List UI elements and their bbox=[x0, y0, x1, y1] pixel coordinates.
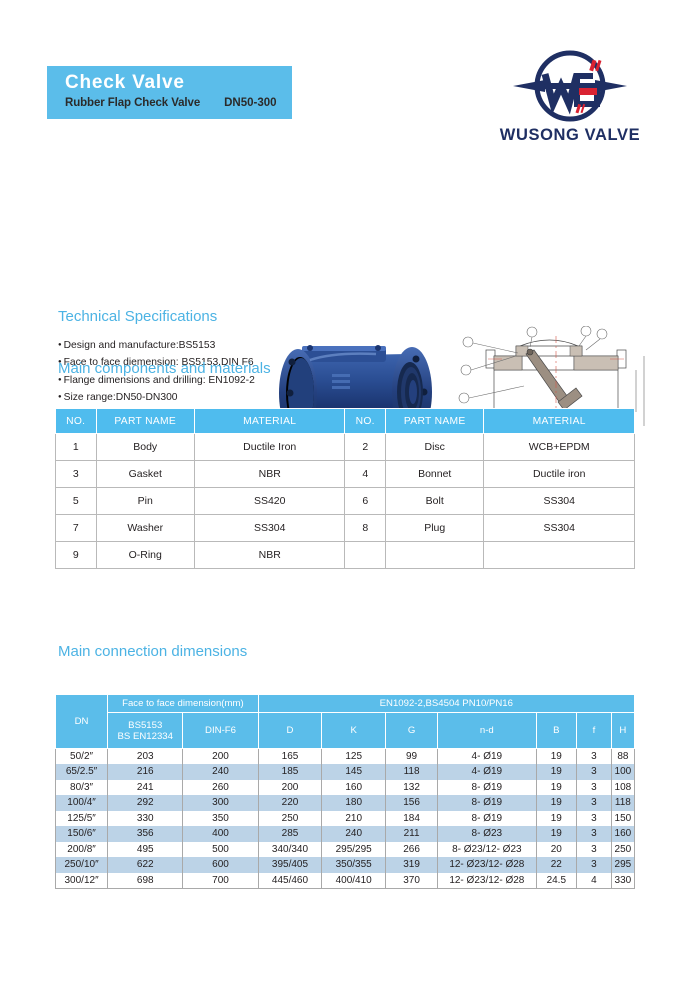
cell-g: 99 bbox=[386, 749, 438, 765]
cell-d: 340/340 bbox=[258, 842, 322, 858]
cell-f: 3 bbox=[577, 749, 612, 765]
dim-col-bs5153-line1: BS5153 bbox=[128, 720, 162, 731]
table-row: 100/4″ 292 300 220 180 156 8- Ø19 19 3 1… bbox=[56, 795, 635, 811]
cell-nd: 4- Ø19 bbox=[438, 764, 536, 780]
cell-dinf6: 400 bbox=[183, 826, 258, 842]
cell-bs5153: 330 bbox=[108, 811, 183, 827]
cell-dn: 50/2″ bbox=[56, 749, 108, 765]
cell-b: 19 bbox=[536, 811, 577, 827]
cell-bs5153: 622 bbox=[108, 857, 183, 873]
cell-dn: 150/6″ bbox=[56, 826, 108, 842]
cell-b: 19 bbox=[536, 749, 577, 765]
cell-partname: Disc bbox=[386, 434, 484, 461]
cell-d: 285 bbox=[258, 826, 322, 842]
cell-material: SS304 bbox=[484, 515, 635, 542]
dimensions-heading: Main connection dimensions bbox=[58, 643, 247, 660]
cell-material: SS304 bbox=[194, 515, 345, 542]
components-col-no-2: NO. bbox=[345, 409, 386, 434]
table-row: 50/2″ 203 200 165 125 99 4- Ø19 19 3 88 bbox=[56, 749, 635, 765]
cell-b: 19 bbox=[536, 764, 577, 780]
cell-f: 3 bbox=[577, 764, 612, 780]
cell-d: 220 bbox=[258, 795, 322, 811]
table-row: 300/12″ 698 700 445/460 400/410 370 12- … bbox=[56, 873, 635, 889]
cell-h: 108 bbox=[611, 780, 634, 796]
cell-g: 319 bbox=[386, 857, 438, 873]
page-header: Check Valve Rubber Flap Check Valve DN50… bbox=[0, 0, 700, 130]
cell-no: 3 bbox=[56, 461, 97, 488]
cell-nd: 8- Ø19 bbox=[438, 811, 536, 827]
cell-f: 3 bbox=[577, 842, 612, 858]
cell-dinf6: 200 bbox=[183, 749, 258, 765]
cell-h: 330 bbox=[611, 873, 634, 889]
cell-nd: 12- Ø23/12- Ø28 bbox=[438, 873, 536, 889]
dim-col-h: H bbox=[611, 713, 634, 749]
cell-no: 1 bbox=[56, 434, 97, 461]
cell-dinf6: 500 bbox=[183, 842, 258, 858]
cell-no: 7 bbox=[56, 515, 97, 542]
dim-col-f: f bbox=[577, 713, 612, 749]
cell-partname: Gasket bbox=[96, 461, 194, 488]
dim-group-flange: EN1092-2,BS4504 PN10/PN16 bbox=[258, 695, 634, 713]
cell-nd: 8- Ø19 bbox=[438, 780, 536, 796]
cell-partname: Washer bbox=[96, 515, 194, 542]
cell-h: 118 bbox=[611, 795, 634, 811]
page-title: Check Valve bbox=[65, 72, 292, 94]
cell-d: 185 bbox=[258, 764, 322, 780]
components-col-material-1: MATERIAL bbox=[194, 409, 345, 434]
table-row: 65/2.5″ 216 240 185 145 118 4- Ø19 19 3 … bbox=[56, 764, 635, 780]
table-row: 5 Pin SS420 6 Bolt SS304 bbox=[56, 488, 635, 515]
cell-dinf6: 350 bbox=[183, 811, 258, 827]
cell-no bbox=[345, 542, 386, 569]
cell-dn: 100/4″ bbox=[56, 795, 108, 811]
cell-dinf6: 240 bbox=[183, 764, 258, 780]
cell-partname: Pin bbox=[96, 488, 194, 515]
cell-k: 180 bbox=[322, 795, 386, 811]
cell-h: 295 bbox=[611, 857, 634, 873]
cell-dinf6: 300 bbox=[183, 795, 258, 811]
cell-k: 350/355 bbox=[322, 857, 386, 873]
components-table: NO. PART NAME MATERIAL NO. PART NAME MAT… bbox=[55, 408, 635, 569]
cell-b: 24.5 bbox=[536, 873, 577, 889]
spec-item: Design and manufacture:BS5153 bbox=[58, 337, 255, 354]
cell-g: 184 bbox=[386, 811, 438, 827]
cell-k: 240 bbox=[322, 826, 386, 842]
table-row: 125/5″ 330 350 250 210 184 8- Ø19 19 3 1… bbox=[56, 811, 635, 827]
cell-material: SS304 bbox=[484, 488, 635, 515]
cell-g: 118 bbox=[386, 764, 438, 780]
cell-f: 3 bbox=[577, 857, 612, 873]
cell-dn: 250/10″ bbox=[56, 857, 108, 873]
cell-f: 3 bbox=[577, 795, 612, 811]
components-col-no-1: NO. bbox=[56, 409, 97, 434]
cell-dn: 300/12″ bbox=[56, 873, 108, 889]
cell-nd: 8- Ø23 bbox=[438, 826, 536, 842]
cell-g: 132 bbox=[386, 780, 438, 796]
cell-no: 4 bbox=[345, 461, 386, 488]
cell-b: 19 bbox=[536, 826, 577, 842]
cell-bs5153: 216 bbox=[108, 764, 183, 780]
cell-h: 150 bbox=[611, 811, 634, 827]
cell-dn: 65/2.5″ bbox=[56, 764, 108, 780]
cell-no: 9 bbox=[56, 542, 97, 569]
cell-d: 250 bbox=[258, 811, 322, 827]
cell-material bbox=[484, 542, 635, 569]
technical-specifications-heading: Technical Specifications bbox=[58, 308, 217, 325]
cell-bs5153: 292 bbox=[108, 795, 183, 811]
product-subtitle: Rubber Flap Check Valve bbox=[65, 97, 200, 109]
cell-h: 160 bbox=[611, 826, 634, 842]
cell-material: Ductile iron bbox=[484, 461, 635, 488]
cell-d: 200 bbox=[258, 780, 322, 796]
cell-h: 88 bbox=[611, 749, 634, 765]
cell-k: 145 bbox=[322, 764, 386, 780]
table-row: 3 Gasket NBR 4 Bonnet Ductile iron bbox=[56, 461, 635, 488]
cell-partname: Bonnet bbox=[386, 461, 484, 488]
components-col-material-2: MATERIAL bbox=[484, 409, 635, 434]
components-col-partname-1: PART NAME bbox=[96, 409, 194, 434]
dim-col-g: G bbox=[386, 713, 438, 749]
cell-k: 160 bbox=[322, 780, 386, 796]
cell-g: 211 bbox=[386, 826, 438, 842]
dim-col-b: B bbox=[536, 713, 577, 749]
cell-dinf6: 700 bbox=[183, 873, 258, 889]
cell-bs5153: 203 bbox=[108, 749, 183, 765]
table-row: 1 Body Ductile Iron 2 Disc WCB+EPDM bbox=[56, 434, 635, 461]
table-row: 80/3″ 241 260 200 160 132 8- Ø19 19 3 10… bbox=[56, 780, 635, 796]
cell-k: 210 bbox=[322, 811, 386, 827]
cell-h: 100 bbox=[611, 764, 634, 780]
cell-f: 3 bbox=[577, 826, 612, 842]
cell-dinf6: 600 bbox=[183, 857, 258, 873]
cell-k: 125 bbox=[322, 749, 386, 765]
cell-k: 295/295 bbox=[322, 842, 386, 858]
cell-bs5153: 495 bbox=[108, 842, 183, 858]
table-row: 250/10″ 622 600 395/405 350/355 319 12- … bbox=[56, 857, 635, 873]
components-header-row: NO. PART NAME MATERIAL NO. PART NAME MAT… bbox=[56, 409, 635, 434]
components-col-partname-2: PART NAME bbox=[386, 409, 484, 434]
cell-g: 370 bbox=[386, 873, 438, 889]
components-heading: Main components and materials bbox=[58, 360, 271, 377]
table-row: 200/8″ 495 500 340/340 295/295 266 8- Ø2… bbox=[56, 842, 635, 858]
dim-group-face: Face to face dimension(mm) bbox=[108, 695, 259, 713]
cell-no: 2 bbox=[345, 434, 386, 461]
cell-dn: 200/8″ bbox=[56, 842, 108, 858]
cell-material: Ductile Iron bbox=[194, 434, 345, 461]
cell-g: 156 bbox=[386, 795, 438, 811]
cell-no: 5 bbox=[56, 488, 97, 515]
technical-specifications-section: Technical Specifications Design and manu… bbox=[0, 130, 700, 295]
dim-col-dinf6: DIN-F6 bbox=[183, 713, 258, 749]
cell-b: 22 bbox=[536, 857, 577, 873]
cell-bs5153: 698 bbox=[108, 873, 183, 889]
dim-col-k: K bbox=[322, 713, 386, 749]
dimensions-header-row-2: BS5153 BS EN12334 DIN-F6 D K G n-d B f H bbox=[56, 713, 635, 749]
cell-f: 3 bbox=[577, 811, 612, 827]
dimensions-header-row-1: DN Face to face dimension(mm) EN1092-2,B… bbox=[56, 695, 635, 713]
dimensions-table: DN Face to face dimension(mm) EN1092-2,B… bbox=[55, 694, 635, 889]
cell-b: 19 bbox=[536, 780, 577, 796]
cell-d: 165 bbox=[258, 749, 322, 765]
cell-k: 400/410 bbox=[322, 873, 386, 889]
cell-no: 6 bbox=[345, 488, 386, 515]
cell-f: 4 bbox=[577, 873, 612, 889]
cell-no: 8 bbox=[345, 515, 386, 542]
dim-col-nd: n-d bbox=[438, 713, 536, 749]
cell-partname: Bolt bbox=[386, 488, 484, 515]
dim-col-d: D bbox=[258, 713, 322, 749]
cell-partname bbox=[386, 542, 484, 569]
cell-bs5153: 356 bbox=[108, 826, 183, 842]
cell-material: NBR bbox=[194, 542, 345, 569]
cell-nd: 12- Ø23/12- Ø28 bbox=[438, 857, 536, 873]
table-row: 9 O-Ring NBR bbox=[56, 542, 635, 569]
dim-col-dn: DN bbox=[56, 695, 108, 749]
cell-b: 19 bbox=[536, 795, 577, 811]
cell-dinf6: 260 bbox=[183, 780, 258, 796]
dim-col-bs5153-line2: BS EN12334 bbox=[118, 731, 173, 742]
cell-g: 266 bbox=[386, 842, 438, 858]
cell-bs5153: 241 bbox=[108, 780, 183, 796]
table-row: 7 Washer SS304 8 Plug SS304 bbox=[56, 515, 635, 542]
dim-col-bs5153: BS5153 BS EN12334 bbox=[108, 713, 183, 749]
cell-material: SS420 bbox=[194, 488, 345, 515]
product-subtitle-row: Rubber Flap Check Valve DN50-300 bbox=[65, 97, 292, 109]
cell-dn: 80/3″ bbox=[56, 780, 108, 796]
wusong-valve-logo-icon bbox=[505, 48, 635, 124]
table-row: 150/6″ 356 400 285 240 211 8- Ø23 19 3 1… bbox=[56, 826, 635, 842]
cell-partname: Plug bbox=[386, 515, 484, 542]
spec-item: Size range:DN50-DN300 bbox=[58, 389, 255, 406]
cell-nd: 4- Ø19 bbox=[438, 749, 536, 765]
cell-b: 20 bbox=[536, 842, 577, 858]
cell-dn: 125/5″ bbox=[56, 811, 108, 827]
product-size-range: DN50-300 bbox=[224, 97, 276, 109]
cell-material: WCB+EPDM bbox=[484, 434, 635, 461]
cell-d: 395/405 bbox=[258, 857, 322, 873]
cell-h: 250 bbox=[611, 842, 634, 858]
cell-partname: O-Ring bbox=[96, 542, 194, 569]
cell-d: 445/460 bbox=[258, 873, 322, 889]
cell-f: 3 bbox=[577, 780, 612, 796]
cell-nd: 8- Ø19 bbox=[438, 795, 536, 811]
product-title-box: Check Valve Rubber Flap Check Valve DN50… bbox=[47, 66, 292, 119]
cell-nd: 8- Ø23/12- Ø23 bbox=[438, 842, 536, 858]
cell-material: NBR bbox=[194, 461, 345, 488]
cell-partname: Body bbox=[96, 434, 194, 461]
